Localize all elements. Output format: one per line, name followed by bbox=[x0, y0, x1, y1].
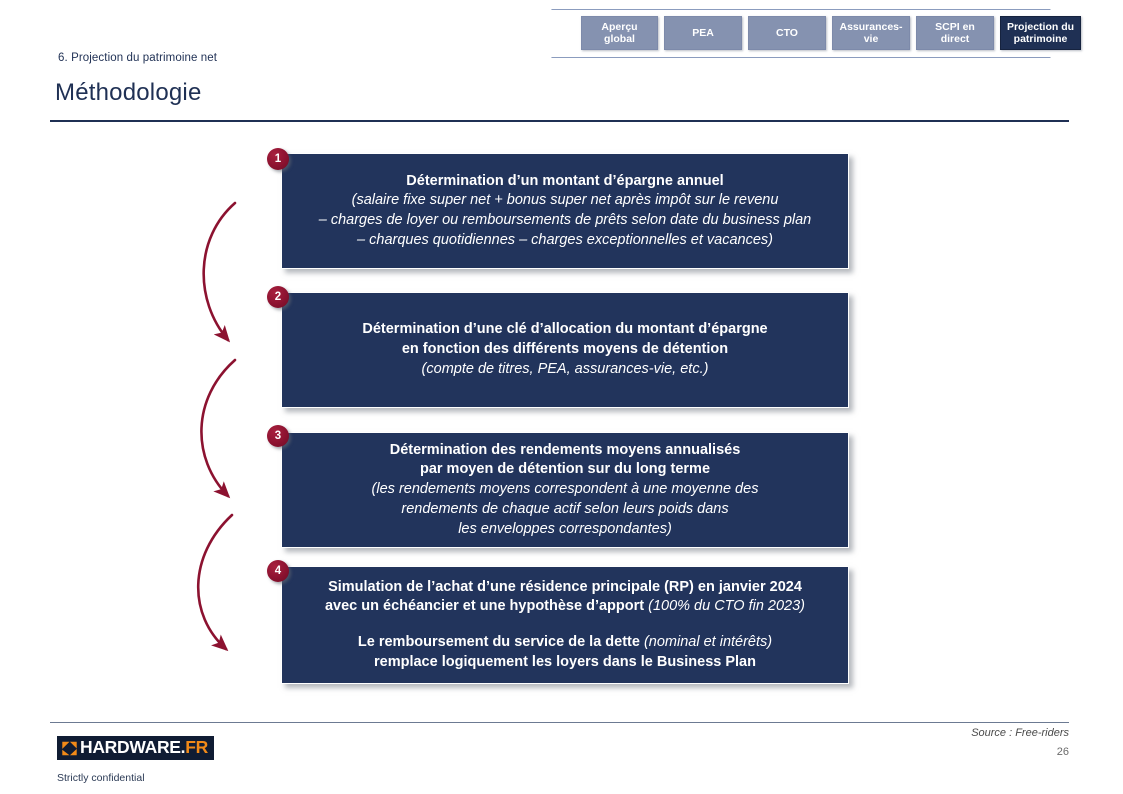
nav-tab-label: PEA bbox=[692, 27, 714, 39]
step-4-line-4: remplace logiquement les loyers dans le … bbox=[374, 653, 756, 673]
page-number: 26 bbox=[1057, 746, 1069, 758]
header-divider bbox=[50, 120, 1069, 122]
logo-wordmark: HARDWARE.FR bbox=[80, 739, 208, 757]
page-title: Méthodologie bbox=[55, 79, 202, 107]
step-box-1: Détermination d’un montant d’épargne ann… bbox=[281, 153, 849, 269]
arrow-2-to-3 bbox=[201, 360, 235, 496]
logo-wordmark-main: HARDWARE. bbox=[80, 737, 185, 757]
nav-tab-6[interactable]: Projection du patrimoine bbox=[1000, 16, 1081, 50]
source-note: Source : Free-riders bbox=[971, 727, 1069, 739]
step-4-line-3-italic: (nominal et intérêts) bbox=[644, 634, 772, 650]
arrow-3-to-4 bbox=[198, 515, 232, 649]
section-eyebrow: 6. Projection du patrimoine net bbox=[58, 52, 217, 64]
step-1-line-2: (salaire fixe super net + bonus super ne… bbox=[352, 191, 779, 211]
nav-tab-label: SCPI en direct bbox=[921, 21, 989, 45]
step-badge-1: 1 bbox=[267, 148, 289, 170]
step-3-line-2: par moyen de détention sur du long terme bbox=[420, 460, 710, 480]
step-box-4: Simulation de l’achat d’une résidence pr… bbox=[281, 566, 849, 684]
nav-tab-1[interactable]: Aperçu global bbox=[581, 16, 658, 50]
nav-tab-label: Assurances-vie bbox=[837, 21, 905, 45]
confidentiality-notice: Strictly confidential bbox=[57, 772, 145, 784]
nav-tab-2[interactable]: PEA bbox=[664, 16, 742, 50]
step-box-2: Détermination d’une clé d’allocation du … bbox=[281, 292, 849, 408]
arrow-1-to-2 bbox=[204, 203, 235, 340]
step-4-line-3: Le remboursement du service de la dette … bbox=[358, 633, 772, 653]
step-3-line-1: Détermination des rendements moyens annu… bbox=[390, 441, 741, 461]
step-4-line-2-italic: (100% du CTO fin 2023) bbox=[648, 598, 805, 614]
step-1-line-3: – charges de loyer ou remboursements de … bbox=[319, 211, 812, 231]
step-2-line-3: (compte de titres, PEA, assurances-vie, … bbox=[422, 360, 709, 380]
step-3-line-4: rendements de chaque actif selon leurs p… bbox=[401, 500, 728, 520]
bowtie-logo-icon bbox=[61, 740, 78, 757]
step-1-line-1: Détermination d’un montant d’épargne ann… bbox=[406, 172, 723, 192]
nav-tab-list: Aperçu globalPEACTOAssurances-vieSCPI en… bbox=[581, 16, 1081, 50]
nav-tab-5[interactable]: SCPI en direct bbox=[916, 16, 994, 50]
hardware-fr-logo: HARDWARE.FR bbox=[57, 736, 214, 760]
step-3-line-5: les enveloppes correspondantes) bbox=[458, 520, 672, 540]
step-4-line-2: avec un échéancier et une hypothèse d’ap… bbox=[325, 597, 805, 617]
step-badge-2: 2 bbox=[267, 286, 289, 308]
step-badge-3: 3 bbox=[267, 425, 289, 447]
footer-divider bbox=[50, 722, 1069, 723]
step-2-line-2: en fonction des différents moyens de dét… bbox=[402, 340, 728, 360]
step-4-line-1: Simulation de l’achat d’une résidence pr… bbox=[328, 578, 802, 598]
step-box-3: Détermination des rendements moyens annu… bbox=[281, 432, 849, 548]
nav-tab-3[interactable]: CTO bbox=[748, 16, 826, 50]
nav-tab-label: Projection du patrimoine bbox=[1005, 21, 1076, 45]
step-badge-4: 4 bbox=[267, 560, 289, 582]
step-3-line-3: (les rendements moyens correspondent à u… bbox=[372, 480, 759, 500]
nav-tab-label: Aperçu global bbox=[586, 21, 653, 45]
step-4-line-3-bold: Le remboursement du service de la dette bbox=[358, 634, 644, 650]
step-1-line-4: – charques quotidiennes – charges except… bbox=[357, 231, 773, 251]
nav-tab-4[interactable]: Assurances-vie bbox=[832, 16, 910, 50]
logo-wordmark-accent: FR bbox=[185, 737, 208, 757]
nav-tab-label: CTO bbox=[776, 27, 798, 39]
step-4-line-2-bold: avec un échéancier et une hypothèse d’ap… bbox=[325, 598, 648, 614]
step-2-line-1: Détermination d’une clé d’allocation du … bbox=[362, 320, 767, 340]
section-nav-banner: Aperçu globalPEACTOAssurances-vieSCPI en… bbox=[551, 9, 1072, 58]
